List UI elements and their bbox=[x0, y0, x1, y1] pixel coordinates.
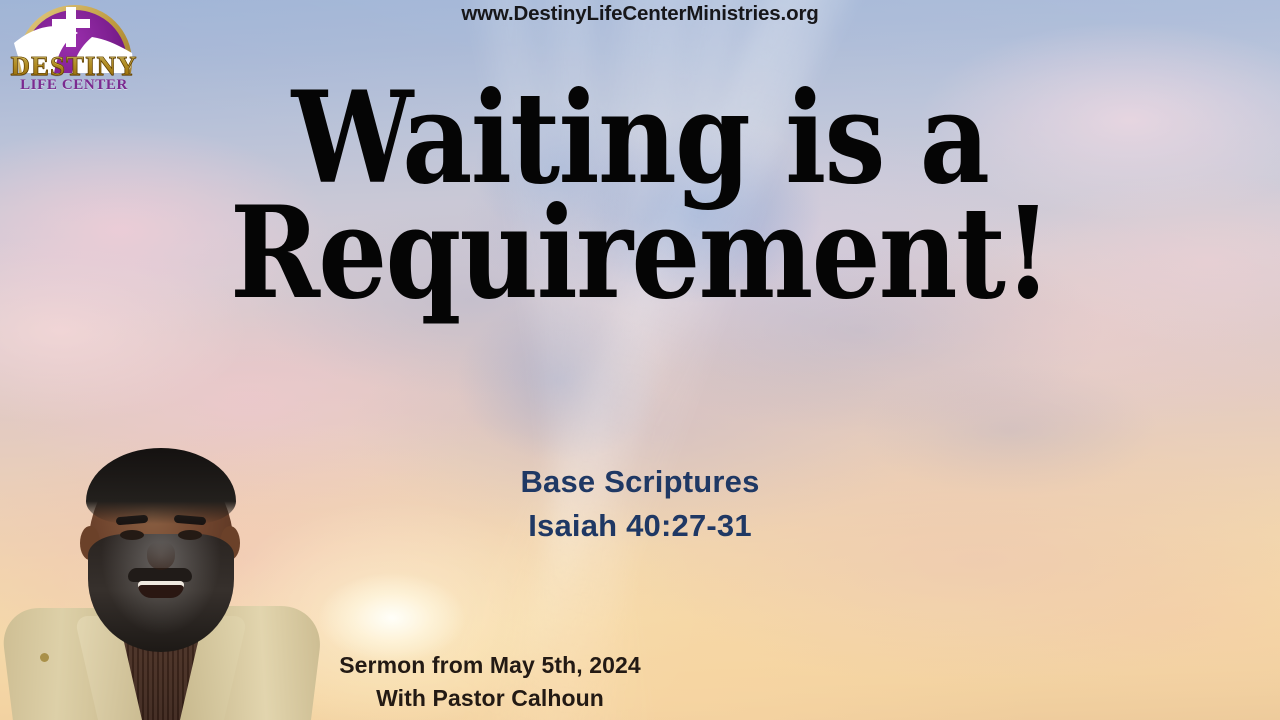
mouth bbox=[138, 581, 184, 598]
scripture-heading: Base Scriptures bbox=[0, 460, 1280, 504]
moustache bbox=[128, 568, 192, 582]
sermon-pastor-line: With Pastor Calhoun bbox=[0, 682, 980, 715]
logo-wordmark-bottom: LIFE CENTER bbox=[4, 77, 144, 94]
website-url[interactable]: www.DestinyLifeCenterMinistries.org bbox=[0, 2, 1280, 26]
sermon-credit: Sermon from May 5th, 2024 With Pastor Ca… bbox=[0, 649, 980, 715]
sermon-slide: DESTINY LIFE CENTER www.DestinyLifeCente… bbox=[0, 0, 1280, 720]
logo-wordmark-top: DESTINY bbox=[4, 53, 144, 79]
sermon-date-line: Sermon from May 5th, 2024 bbox=[0, 649, 980, 682]
sermon-title: Waiting is a Requirement! bbox=[90, 78, 1191, 314]
scripture-block: Base Scriptures Isaiah 40:27-31 bbox=[0, 460, 1280, 548]
church-logo[interactable]: DESTINY LIFE CENTER bbox=[4, 1, 144, 99]
scripture-reference: Isaiah 40:27-31 bbox=[0, 504, 1280, 548]
sermon-title-line-2: Requirement! bbox=[90, 193, 1191, 314]
